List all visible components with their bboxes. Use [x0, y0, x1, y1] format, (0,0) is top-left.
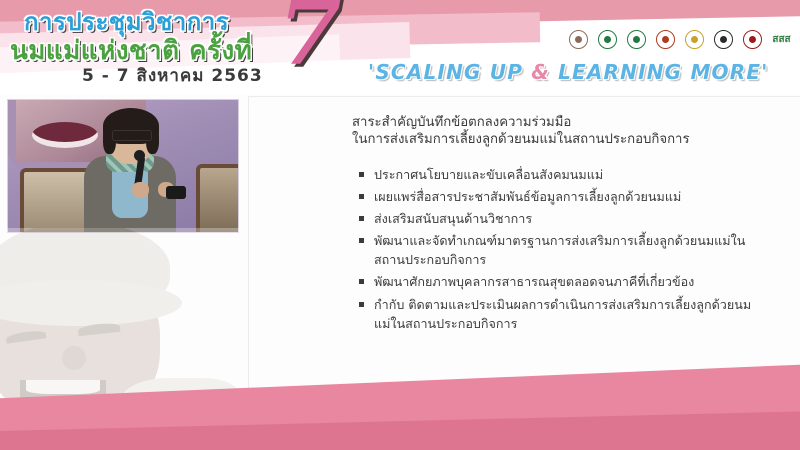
red-shield-logo	[740, 27, 765, 52]
tagline-part-1: 'SCALING UP	[368, 60, 531, 84]
square-bullet-icon	[359, 216, 364, 221]
square-bullet-icon	[359, 238, 364, 243]
presentation-slide: การประชุมวิชาการ นมแม่แห่งชาติ ครั้งที่ …	[0, 0, 800, 450]
royal-crest-red-logo	[653, 27, 678, 52]
list-item: พัฒนาและจัดทำเกณฑ์มาตรฐานการส่งเสริมการเ…	[374, 231, 752, 269]
list-item: กำกับ ติดตามและประเมินผลการดำเนินการส่งเ…	[374, 295, 752, 333]
slide-header-banner: การประชุมวิชาการ นมแม่แห่งชาติ ครั้งที่ …	[0, 0, 800, 95]
speaker-presentation-photo	[8, 100, 238, 232]
content-top-divider	[248, 96, 800, 97]
list-item-label: พัฒนาศักยภาพบุคลากรสาธารณสุขตลอดจนภาคีที…	[374, 274, 694, 289]
slide-content: สาระสำคัญบันทึกข้อตกลงความร่วมมือ ในการส…	[352, 112, 752, 336]
edition-number-seven: 7	[278, 0, 342, 78]
tagline-ampersand: &	[531, 60, 550, 84]
department-of-health-logo	[624, 27, 649, 52]
ministry-of-public-health-logo	[595, 27, 620, 52]
presentation-clicker	[166, 186, 186, 199]
thaihealth-sss-logo: สสส	[769, 27, 794, 52]
list-item: ส่งเสริมสนับสนุนด้านวิชาการ	[374, 209, 752, 228]
list-item: พัฒนาศักยภาพบุคลากรสาธารณสุขตลอดจนภาคีที…	[374, 272, 752, 291]
royal-crest-gold-logo	[682, 27, 707, 52]
content-bullet-list: ประกาศนโยบายและขับเคลื่อนสังคมนมแม่ เผยแ…	[352, 165, 752, 333]
conference-date: 5 - 7 สิงหาคม 2563	[82, 62, 263, 89]
list-item-label: เผยแพร่สื่อสารประชาสัมพันธ์ข้อมูลการเลี้…	[374, 189, 681, 204]
child-teeth	[26, 380, 100, 394]
list-item-label: พัฒนาและจัดทำเกณฑ์มาตรฐานการส่งเสริมการเ…	[374, 233, 745, 267]
royal-emblem-logo	[566, 27, 591, 52]
microphone-head	[134, 150, 145, 161]
content-lead-line2: ในการส่งเสริมการเลี้ยงลูกด้วยนมแม่ในสถาน…	[352, 129, 752, 150]
speaker-hand-holding-mic	[132, 182, 149, 198]
square-bullet-icon	[359, 302, 364, 307]
list-item-label: ส่งเสริมสนับสนุนด้านวิชาการ	[374, 211, 532, 226]
list-item: ประกาศนโยบายและขับเคลื่อนสังคมนมแม่	[374, 165, 752, 184]
child-nose	[62, 346, 86, 370]
stage-chair-right	[196, 164, 238, 232]
content-vertical-divider	[248, 96, 249, 414]
square-bullet-icon	[359, 194, 364, 199]
conference-tagline: 'SCALING UP & LEARNING MORE'	[368, 60, 769, 84]
square-bullet-icon	[359, 279, 364, 284]
list-item-label: กำกับ ติดตามและประเมินผลการดำเนินการส่งเ…	[374, 297, 751, 331]
speaker-glasses	[112, 130, 152, 141]
list-item-label: ประกาศนโยบายและขับเคลื่อนสังคมนมแม่	[374, 167, 603, 182]
thaihealth-sss-text: สสส	[772, 32, 790, 47]
backdrop-mouth-graphic	[32, 122, 98, 148]
black-seal-logo	[711, 27, 736, 52]
sponsor-logo-row: สสส	[566, 27, 794, 52]
square-bullet-icon	[359, 172, 364, 177]
tagline-part-2: LEARNING MORE'	[550, 60, 769, 84]
list-item: เผยแพร่สื่อสารประชาสัมพันธ์ข้อมูลการเลี้…	[374, 187, 752, 206]
